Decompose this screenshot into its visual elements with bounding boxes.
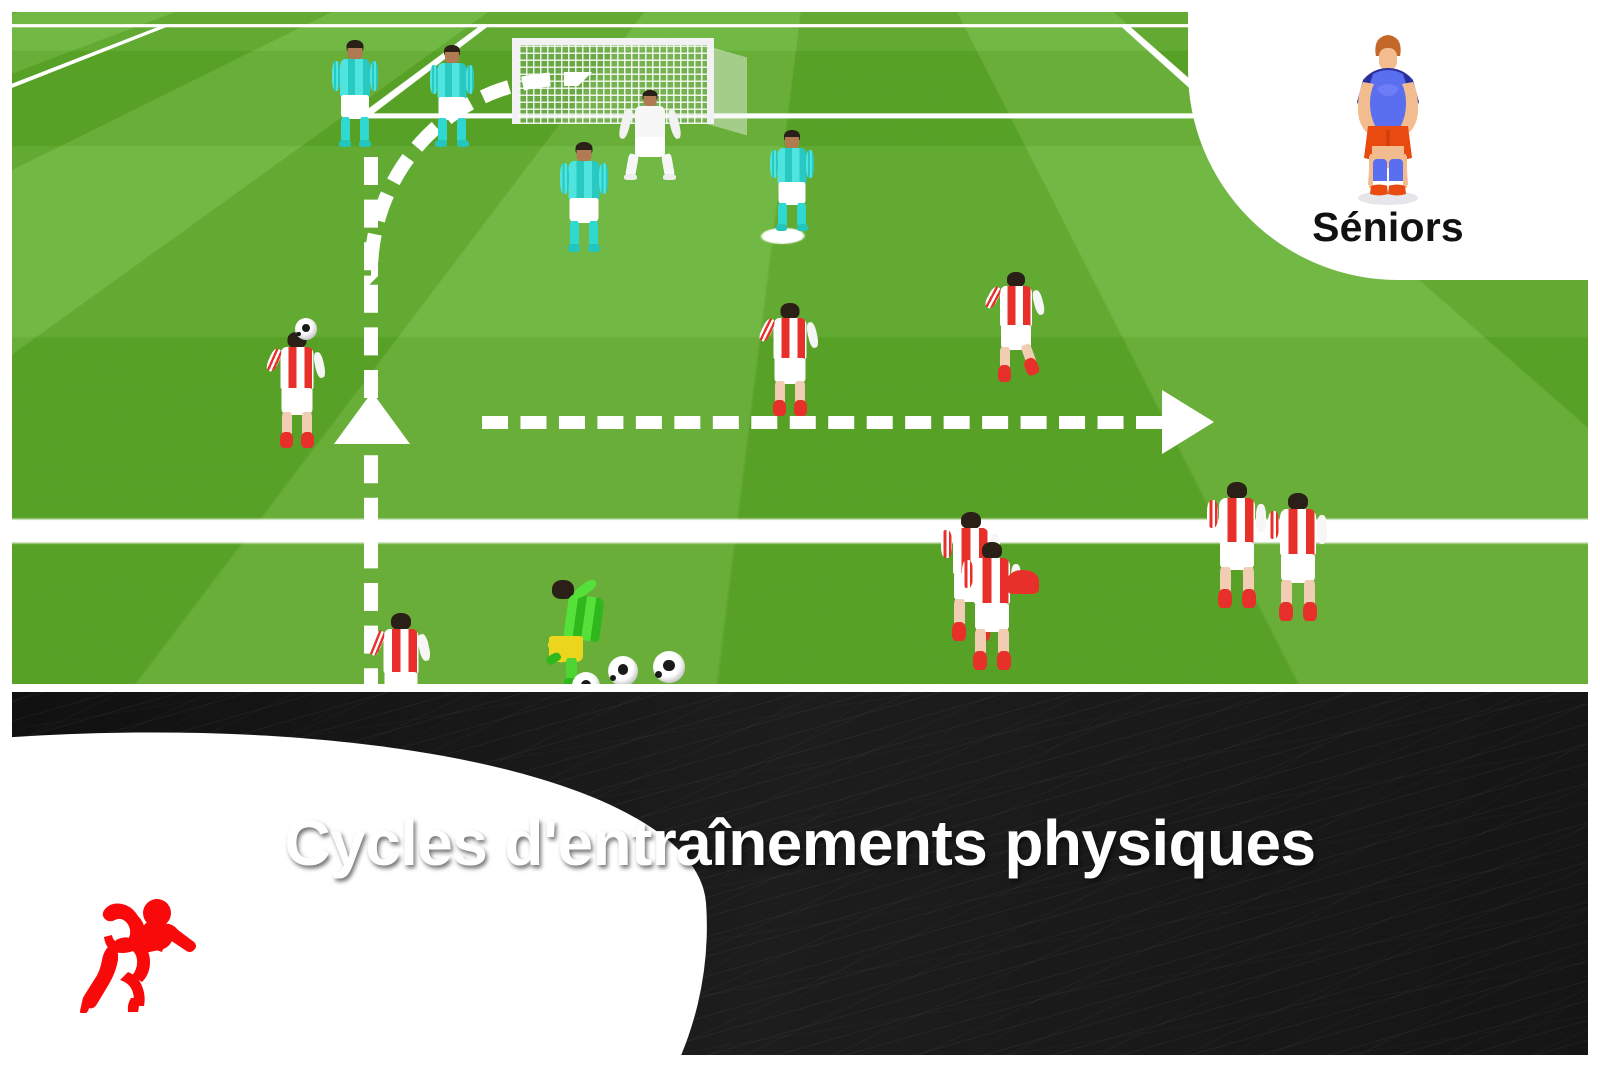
player-team-b [771,130,813,234]
senior-player-figure-icon [1333,26,1443,208]
page-title: Cycles d'entraînements physiques [0,806,1600,880]
penalty-area-left-line [12,24,174,543]
player-team-a [1211,482,1263,612]
goalkeeper [624,90,676,182]
pass-path-arrowhead-icon [1162,390,1214,454]
goal-post-right [707,38,714,124]
player-team-b [562,142,606,254]
goal-crossbar [512,38,714,45]
player-team-a [1272,493,1324,625]
running-sprinter-icon [78,878,208,1013]
player-team-a [966,542,1018,674]
player-team-a [376,613,426,684]
soccer-ball [608,656,638,684]
soccer-ball [653,651,685,683]
soccer-ball [295,318,317,340]
player-team-a [992,272,1040,386]
pass-path-line [482,416,1162,429]
player-team-a [273,332,321,452]
player-team-b [431,45,473,150]
category-badge[interactable]: Séniors [1188,12,1588,280]
run-path-arrowhead-icon [334,392,410,444]
training-cone [1007,570,1039,594]
training-session-poster: Séniors Cycles d'entraînements physiques [0,0,1600,1067]
player-team-b [333,40,377,150]
player-server-green [540,580,600,680]
badge-label: Séniors [1188,204,1588,251]
player-team-a [766,303,814,421]
